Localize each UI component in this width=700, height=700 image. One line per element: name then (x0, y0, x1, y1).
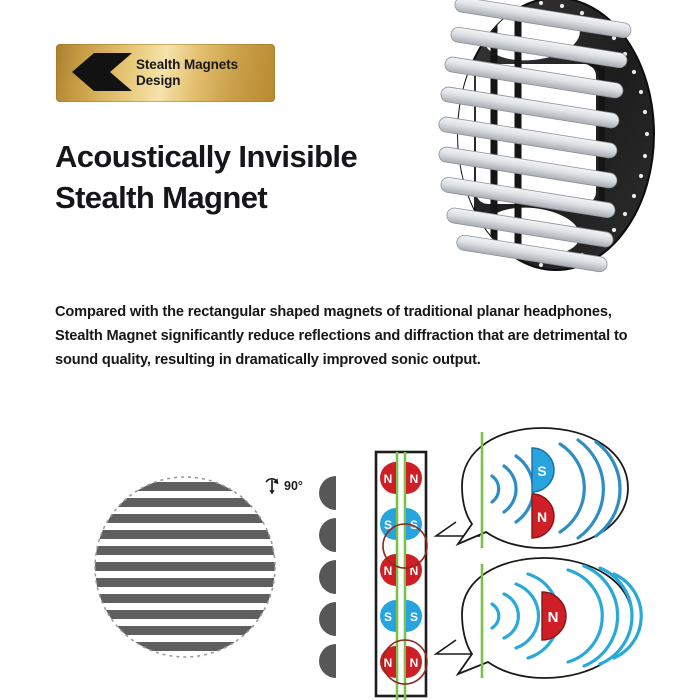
stealth-magnets-design-badge: Stealth Magnets Design (56, 44, 275, 102)
callouts-svg: S N (420, 424, 700, 700)
page-title: Acoustically Invisible Stealth Magnet (55, 136, 485, 218)
callout-stealth-magnet: N (458, 558, 641, 678)
badge-label: Stealth Magnets Design (136, 57, 238, 88)
callout-rectangular-magnet: S N (458, 428, 628, 548)
driver-render-svg (436, 0, 700, 276)
svg-text:N: N (410, 656, 419, 670)
planar-driver-magnet-array (436, 0, 700, 276)
svg-text:S: S (410, 610, 418, 624)
halfmoon-column-svg (310, 474, 340, 684)
svg-text:N: N (410, 472, 419, 486)
callout-group: S N (420, 424, 700, 700)
stealth-magnet-diagram: 90° (0, 424, 700, 700)
svg-text:N: N (384, 656, 393, 670)
rotate-degrees-label: 90° (284, 479, 303, 493)
svg-text:N: N (384, 472, 393, 486)
svg-text:S: S (537, 463, 546, 479)
svg-text:N: N (384, 564, 393, 578)
striped-driver-circle (92, 474, 278, 660)
rotate-90-annotation: 90° (262, 476, 303, 496)
svg-text:N: N (548, 609, 559, 626)
striped-circle-svg (92, 474, 278, 660)
page-root: Stealth Magnets Design Acoustically Invi… (0, 0, 700, 700)
body-paragraph: Compared with the rectangular shaped mag… (55, 301, 655, 372)
svg-text:N: N (537, 509, 547, 525)
triple-chevron-left-icon (64, 51, 134, 95)
stealth-magnet-cross-sections (310, 474, 340, 684)
svg-text:S: S (384, 610, 392, 624)
rotate-90-icon (262, 476, 282, 496)
